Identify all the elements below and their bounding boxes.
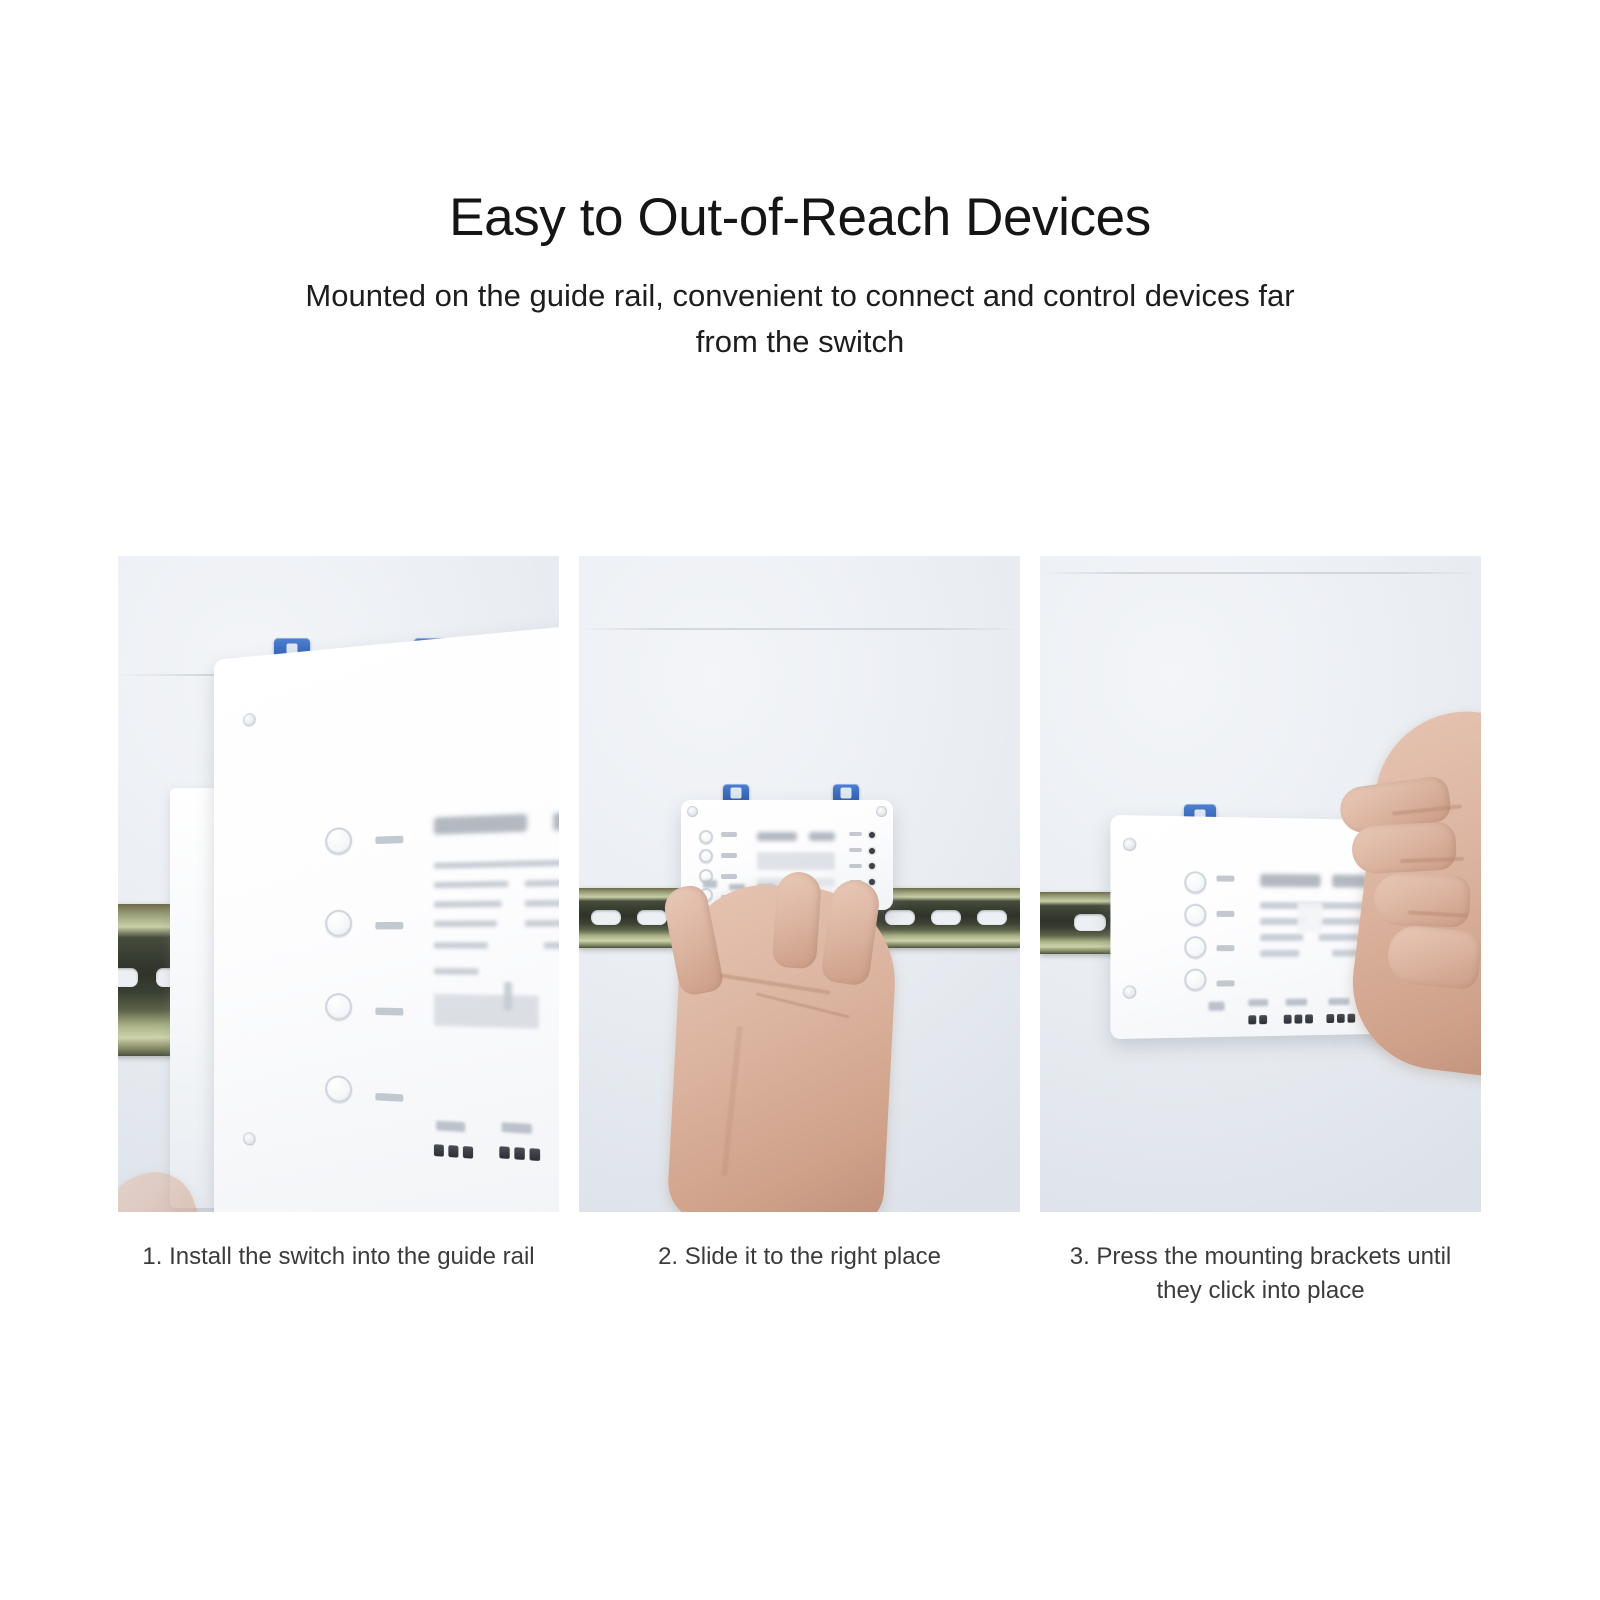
- device-label-chip: [1216, 945, 1234, 951]
- device-label-chip: [375, 1008, 403, 1016]
- din-rail-slot: [637, 910, 667, 925]
- device-screw: [1123, 985, 1136, 998]
- terminal-label: [502, 1122, 532, 1134]
- device-label-chip: [721, 874, 737, 879]
- spec-mark: [504, 982, 512, 1011]
- status-led: [869, 832, 875, 838]
- device-label-chip: [721, 853, 737, 858]
- step-2: 2. Slide it to the right place: [579, 556, 1020, 1308]
- device-label-chip: [375, 836, 403, 844]
- spec-text-line: [525, 899, 559, 907]
- din-rail-slot: [591, 910, 621, 925]
- device-button-column[interactable]: [325, 827, 352, 1103]
- step-2-caption: 2. Slide it to the right place: [579, 1240, 1020, 1274]
- spec-text-line: [1260, 950, 1299, 957]
- spec-text-line: [434, 968, 479, 975]
- terminal-block: [1248, 1015, 1267, 1024]
- terminal-pin: [1294, 1015, 1302, 1024]
- wifi-icon: [1208, 1002, 1224, 1011]
- wall-seam: [1040, 572, 1481, 574]
- step-3-photo: [1040, 556, 1481, 1212]
- status-led: [869, 879, 875, 885]
- spec-text-line: [434, 942, 488, 949]
- device-label-chip: [375, 1093, 403, 1102]
- terminal-pin: [1305, 1014, 1313, 1023]
- model-name-blur: [1332, 875, 1366, 888]
- terminal-label: [1328, 998, 1349, 1005]
- device-button[interactable]: [699, 849, 713, 863]
- terminal-pin: [530, 1148, 541, 1161]
- din-rail-slot: [931, 910, 961, 925]
- device-screw: [687, 806, 698, 817]
- device-button[interactable]: [699, 830, 713, 844]
- step-1: 1. Install the switch into the guide rai…: [118, 556, 559, 1308]
- spec-text-block: [434, 994, 539, 1029]
- terminal-block: [1284, 1014, 1313, 1023]
- brand-logo-blur: [757, 832, 797, 841]
- status-led: [869, 863, 875, 869]
- device-label-chip: [849, 848, 862, 852]
- device-button-labels: [375, 836, 403, 1102]
- middle-finger: [1351, 821, 1457, 874]
- wall-seam: [579, 628, 1020, 630]
- terminal-pin: [463, 1146, 473, 1159]
- terminal-pin: [448, 1145, 458, 1158]
- spec-text-line: [525, 879, 559, 887]
- index-finger: [772, 871, 823, 970]
- din-rail-slot: [118, 968, 138, 987]
- device-label-chip: [1216, 910, 1234, 916]
- spec-text-line: [434, 920, 497, 927]
- device-button[interactable]: [325, 827, 352, 855]
- page-subtitle: Mounted on the guide rail, convenient to…: [300, 273, 1300, 365]
- spec-text-block: [1297, 902, 1322, 932]
- wifi-icon: [703, 880, 717, 888]
- terminal-pin: [1259, 1015, 1267, 1024]
- spec-text-line: [525, 920, 559, 927]
- terminal-block: [434, 1144, 473, 1158]
- terminal-pin: [1348, 1014, 1356, 1023]
- device-label-chip: [849, 832, 862, 836]
- terminal-label: [1286, 999, 1307, 1006]
- model-name-blur: [809, 832, 835, 841]
- spec-text-block: [757, 852, 835, 870]
- step-1-caption: 1. Install the switch into the guide rai…: [118, 1240, 559, 1274]
- step-3: 3. Press the mounting brackets until the…: [1040, 556, 1481, 1308]
- device-screw: [243, 1132, 256, 1146]
- terminal-pin: [1284, 1015, 1292, 1024]
- terminal-label: [436, 1121, 465, 1132]
- din-rail-slot: [1074, 914, 1106, 931]
- device-screw: [1123, 838, 1136, 852]
- terminal-block: [499, 1146, 540, 1161]
- ring-finger: [1373, 872, 1471, 927]
- device-button[interactable]: [1184, 871, 1206, 893]
- device-button-column[interactable]: [1184, 871, 1206, 991]
- terminal-pin: [514, 1147, 524, 1160]
- header: Easy to Out-of-Reach Devices Mounted on …: [0, 188, 1600, 365]
- spec-text-line: [434, 858, 559, 869]
- device-button[interactable]: [1184, 968, 1206, 991]
- device-front-face: [214, 622, 559, 1212]
- device-label-chip: [849, 864, 862, 868]
- smart-switch-device: [214, 622, 559, 1212]
- installation-steps: 1. Install the switch into the guide rai…: [118, 556, 1480, 1308]
- spec-text-line: [1260, 934, 1303, 941]
- device-button[interactable]: [325, 993, 352, 1021]
- step-3-caption: 3. Press the mounting brackets until the…: [1040, 1240, 1481, 1308]
- din-rail-slot: [977, 910, 1007, 925]
- terminal-block: [1326, 1014, 1355, 1023]
- device-button-labels: [1216, 875, 1234, 986]
- brand-logo-blur: [1260, 874, 1320, 887]
- device-label-chip: [375, 922, 403, 930]
- step-1-photo: [118, 556, 559, 1212]
- terminal-pin: [1337, 1014, 1345, 1023]
- device-button[interactable]: [325, 910, 352, 937]
- device-button[interactable]: [325, 1075, 352, 1103]
- device-button[interactable]: [1184, 904, 1206, 926]
- din-rail-slot: [885, 910, 915, 925]
- device-label-chip: [1216, 875, 1234, 881]
- terminal-pin: [434, 1144, 444, 1157]
- device-label-chip: [1216, 980, 1234, 986]
- model-name-blur: [553, 811, 559, 831]
- brand-logo-blur: [434, 814, 527, 835]
- terminal-pin: [499, 1146, 509, 1159]
- terminal-pin: [1248, 1015, 1256, 1024]
- spec-text-line: [434, 881, 509, 889]
- device-button[interactable]: [1184, 936, 1206, 958]
- spec-text-line: [544, 942, 559, 949]
- device-label-chip: [721, 832, 737, 837]
- device-screw: [243, 713, 256, 727]
- status-led: [869, 848, 875, 854]
- terminal-label: [1248, 999, 1268, 1006]
- terminal-pin: [1326, 1014, 1334, 1023]
- spec-text-line: [434, 900, 502, 907]
- device-screw: [876, 806, 887, 817]
- step-2-photo: [579, 556, 1020, 1212]
- page-title: Easy to Out-of-Reach Devices: [0, 188, 1600, 247]
